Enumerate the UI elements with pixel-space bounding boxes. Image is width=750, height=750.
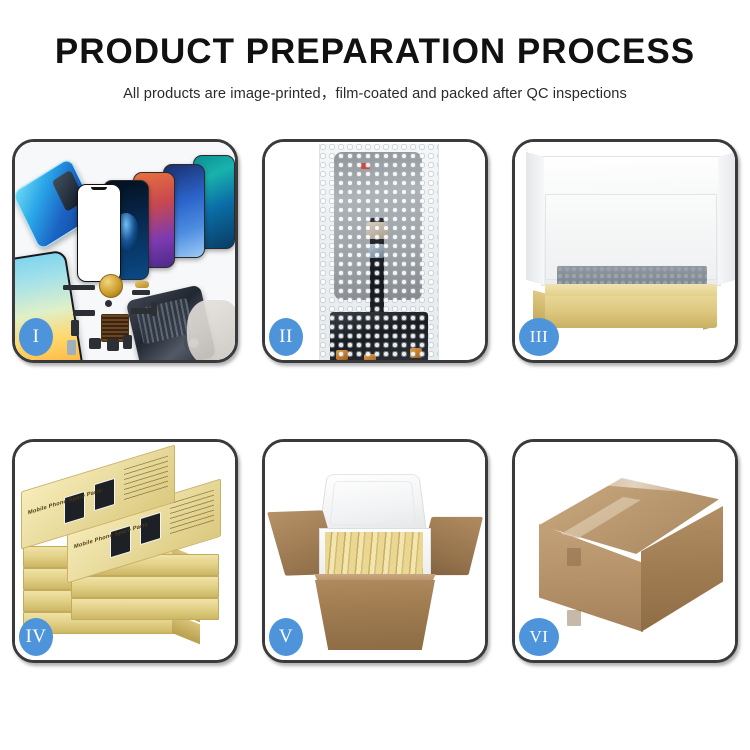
screw-part-1 xyxy=(135,281,149,288)
process-step-grid: I II xyxy=(12,139,738,663)
printed-spec-lines xyxy=(124,456,168,503)
process-step-panel-3[interactable]: III xyxy=(512,139,738,363)
flex-cable-part-1 xyxy=(73,310,95,316)
page-title: PRODUCT PREPARATION PROCESS xyxy=(0,34,750,71)
flex-cable-part-2 xyxy=(71,320,79,336)
flex-cable-part-4 xyxy=(151,302,157,316)
page-subtitle: All products are image-printed，film-coat… xyxy=(0,82,750,103)
button-flex-part xyxy=(132,290,150,295)
screw-part-2 xyxy=(105,300,112,307)
step-badge-6: VI xyxy=(519,618,559,656)
step-badge-1: I xyxy=(19,318,53,356)
earpiece-part xyxy=(63,285,95,290)
notch-icon xyxy=(91,187,107,191)
carton-tab-1 xyxy=(567,548,581,566)
gold-boxes-inside xyxy=(325,532,423,576)
process-step-panel-4[interactable]: Mobile Phone Spare Parts Mobile Phone Sp… xyxy=(12,439,238,663)
process-step-panel-1[interactable]: I xyxy=(12,139,238,363)
page-header: PRODUCT PREPARATION PROCESS All products… xyxy=(0,0,750,103)
cardboard-carton xyxy=(315,580,435,650)
battery-connector-part xyxy=(67,340,76,355)
step-badge-2: II xyxy=(269,318,303,356)
process-step-panel-6[interactable]: VI xyxy=(512,439,738,663)
camera-module-part xyxy=(89,338,101,349)
step-badge-4: IV xyxy=(19,618,53,656)
bubble-wrap-bag xyxy=(319,144,439,360)
step-badge-3: III xyxy=(519,318,559,356)
bubble-texture xyxy=(320,144,438,360)
process-step-panel-2[interactable]: II xyxy=(262,139,488,363)
carton-tab-2 xyxy=(567,610,581,626)
process-step-panel-5[interactable]: V xyxy=(262,439,488,663)
hand-graphic xyxy=(187,300,235,360)
foam-lid-open xyxy=(319,474,428,534)
phone-screen-1 xyxy=(77,184,121,282)
vibrator-part xyxy=(107,339,119,351)
gold-box-edge-6 xyxy=(71,576,219,598)
gold-tray xyxy=(545,294,717,328)
step-badge-5: V xyxy=(269,618,303,656)
sim-tray-part xyxy=(123,335,132,349)
printed-spec-lines xyxy=(170,490,214,537)
speaker-part xyxy=(99,274,123,298)
gold-box-edge-5 xyxy=(71,598,219,620)
